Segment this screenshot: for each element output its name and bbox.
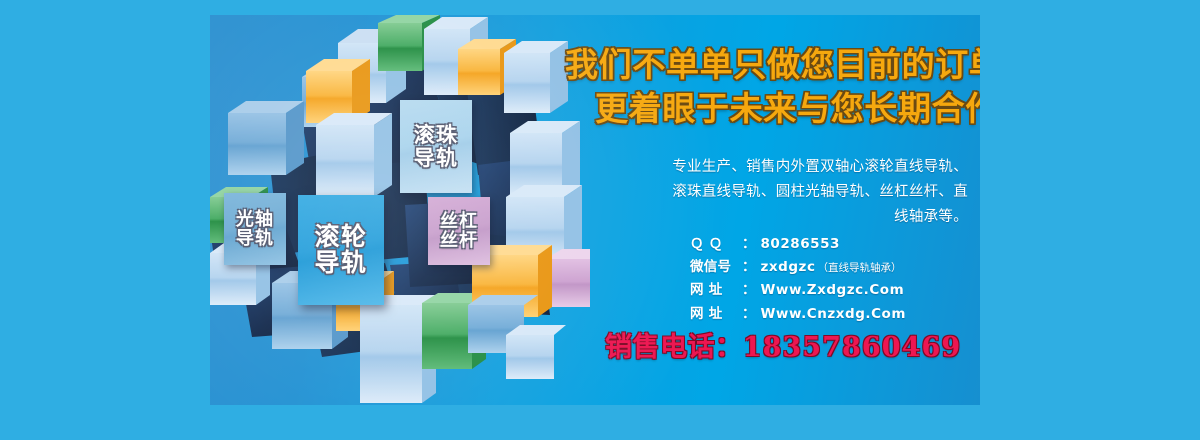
contact-separator: ： xyxy=(742,233,756,256)
contact-value-wechat[interactable]: zxdgzc xyxy=(761,256,816,279)
contact-row-website-1: 网 址 ： Www.Zxdgzc.Com xyxy=(690,279,906,302)
description-line-3: 线轴承等。 xyxy=(568,205,968,230)
contact-label-qq: Ｑ Ｑ xyxy=(690,233,742,256)
banner-copy: 我们不单单只做您目前的订单 更着眼于未来与您长期合作 专业生产、销售内外置双轴心… xyxy=(550,15,980,405)
contact-value-qq[interactable]: 80286553 xyxy=(761,233,840,256)
contact-list: Ｑ Ｑ ： 80286553 微信号 ： zxdgzc （直线导轨轴承） 网 址… xyxy=(690,233,906,326)
contact-value-website-1[interactable]: Www.Zxdgzc.Com xyxy=(761,279,905,302)
product-label-line2: 导轨 xyxy=(314,250,367,277)
contact-separator: ： xyxy=(742,303,756,326)
product-label-line2: 丝杆 xyxy=(440,231,478,250)
sales-phone-label: 销售电话： xyxy=(605,332,743,363)
contact-label-website: 网 址 xyxy=(690,279,742,302)
contact-label-wechat: 微信号 xyxy=(690,256,742,279)
banner-stage: 滚珠 导轨 光轴 导轨 滚轮 导轨 丝杠 丝杆 我们不单单只做您目前的订单 更着… xyxy=(0,0,1200,440)
description: 专业生产、销售内外置双轴心滚轮直线导轨、 滚珠直线导轨、圆柱光轴导轨、丝杠丝杆、… xyxy=(568,155,968,230)
contact-row-wechat: 微信号 ： zxdgzc （直线导轨轴承） xyxy=(690,256,906,279)
product-label-roller-guide[interactable]: 滚轮 导轨 xyxy=(298,195,384,305)
product-label-lead-screw[interactable]: 丝杠 丝杆 xyxy=(428,197,490,265)
product-label-line2: 导轨 xyxy=(236,229,274,248)
product-label-line2: 导轨 xyxy=(414,147,459,169)
product-label-ball-guide[interactable]: 滚珠 导轨 xyxy=(400,100,472,193)
contact-label-website: 网 址 xyxy=(690,303,742,326)
product-label-line1: 光轴 xyxy=(236,210,274,229)
headline-line-1: 我们不单单只做您目前的订单 xyxy=(565,43,980,87)
contact-separator: ： xyxy=(742,256,756,279)
product-label-optical-shaft[interactable]: 光轴 导轨 xyxy=(224,193,286,265)
headline-line-2: 更着眼于未来与您长期合作 xyxy=(565,87,980,131)
headline: 我们不单单只做您目前的订单 更着眼于未来与您长期合作 xyxy=(565,43,980,131)
contact-separator: ： xyxy=(742,279,756,302)
description-line-1: 专业生产、销售内外置双轴心滚轮直线导轨、 xyxy=(568,155,968,180)
description-line-2: 滚珠直线导轨、圆柱光轴导轨、丝杠丝杆、直 xyxy=(568,180,968,205)
product-label-line1: 丝杠 xyxy=(440,212,478,231)
sales-phone[interactable]: 销售电话：18357860469 xyxy=(605,325,961,364)
contact-row-qq: Ｑ Ｑ ： 80286553 xyxy=(690,233,906,256)
product-label-line1: 滚珠 xyxy=(414,124,459,146)
product-label-line1: 滚轮 xyxy=(314,224,367,251)
sales-phone-number[interactable]: 18357860469 xyxy=(743,332,962,363)
contact-row-website-2: 网 址 ： Www.Cnzxdg.Com xyxy=(690,303,906,326)
contact-note-wechat: （直线导轨轴承） xyxy=(818,259,902,277)
banner-panel: 滚珠 导轨 光轴 导轨 滚轮 导轨 丝杠 丝杆 我们不单单只做您目前的订单 更着… xyxy=(210,15,980,405)
contact-value-website-2[interactable]: Www.Cnzxdg.Com xyxy=(761,303,906,326)
